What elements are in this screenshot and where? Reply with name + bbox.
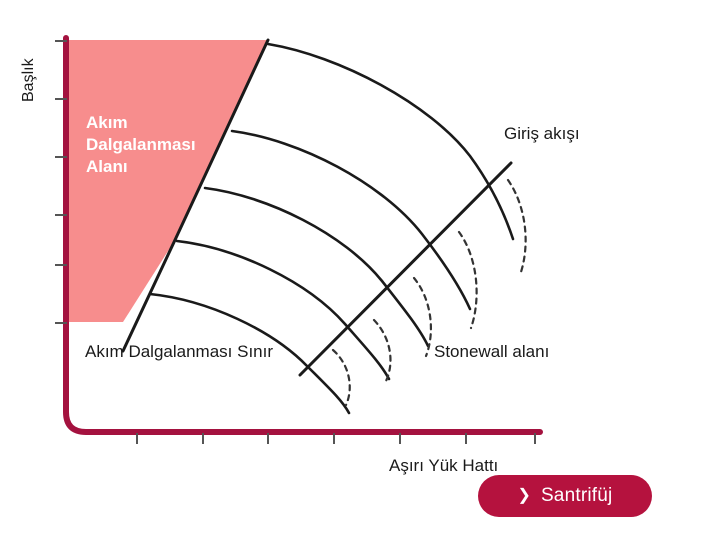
surge-region-fill	[68, 40, 268, 322]
compressor-map-figure: Başlık Aşırı Yük Hattı Akım Dalgalanması…	[0, 0, 720, 557]
surge-limit-label: Akım Dalgalanması Sınır	[85, 342, 273, 361]
stonewall-dashed-4	[374, 320, 390, 381]
x-axis-title: Aşırı Yük Hattı	[389, 456, 498, 475]
stonewall-dashed-1	[508, 180, 526, 272]
surge-region-label-line3: Alanı	[86, 157, 128, 176]
speed-curve-1	[268, 44, 513, 239]
speed-curve-3	[205, 188, 428, 346]
santrifuj-button-label: Santrifüj	[541, 485, 613, 507]
chevron-right-icon: ❯	[518, 488, 531, 504]
stonewall-dashed-2	[459, 232, 477, 328]
performance-map-chart: Başlık Aşırı Yük Hattı Akım Dalgalanması…	[0, 0, 720, 557]
y-axis-title: Başlık	[20, 57, 37, 102]
inlet-flow-label: Giriş akışı	[504, 124, 580, 143]
santrifuj-button[interactable]: ❯ Santrifüj	[478, 475, 652, 517]
stonewall-dashed-3	[414, 278, 431, 356]
stonewall-dashed-curves	[333, 180, 526, 405]
stonewall-label: Stonewall alanı	[434, 342, 549, 361]
speed-curve-2	[232, 131, 470, 309]
surge-region-label-line2: Dalgalanması	[86, 135, 196, 154]
surge-region-label-line1: Akım	[86, 113, 128, 132]
